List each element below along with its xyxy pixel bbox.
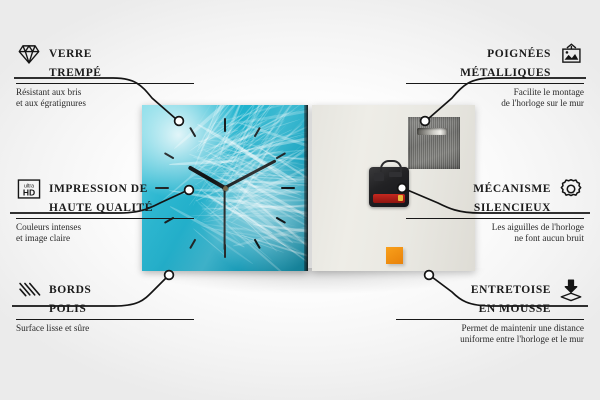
mechanism-chip [374,173,384,181]
clock-edge [304,105,308,271]
svg-text:HD: HD [23,188,35,198]
subtitle-line: Résistant aux bris [16,87,194,98]
subtitle-line: Couleurs intenses [16,222,194,233]
subtitle-line: uniforme entre l'horloge et le mur [396,334,584,345]
divider [396,319,584,320]
feature-header: ultra HD IMPRESSION DE [16,176,194,202]
feature-title-line2: SILENCIEUX [406,202,551,215]
clock-mechanism [369,167,409,207]
feature-subtitle: Permet de maintenir une distance uniform… [396,323,584,346]
divider [16,319,194,320]
subtitle-line: Les aiguilles de l'horloge [406,222,584,233]
picture-hanger-icon [558,41,584,67]
feature-title-line2: HAUTE QUALITÉ [49,202,194,215]
feature-title: IMPRESSION DE [49,183,148,196]
feature-header: MÉCANISME [406,176,584,202]
feature-subtitle: Facilite le montage de l'horloge sur le … [406,87,584,110]
feature-title: VERRE [49,48,92,61]
foam-spacer [386,247,403,264]
subtitle-line: Facilite le montage [406,87,584,98]
feature-bords-polis: BORDS POLIS Surface lisse et sûre [16,277,194,334]
feature-header: VERRE [16,41,194,67]
divider [16,218,194,219]
subtitle-line: et aux égratignures [16,98,194,109]
feature-title: MÉCANISME [406,183,551,196]
subtitle-line: Surface lisse et sûre [16,323,194,334]
feature-title: ENTRETOISE [396,284,551,297]
feature-impression-haute-qualite: ultra HD IMPRESSION DE HAUTE QUALITÉ Cou… [16,176,194,245]
feature-subtitle: Surface lisse et sûre [16,323,194,334]
polished-edges-icon [16,277,42,303]
infographic-stage: VERRE TREMPÉ Résistant aux bris et aux é… [0,0,600,400]
metal-hanger-plate [408,117,460,169]
feature-verre-trempe: VERRE TREMPÉ Résistant aux bris et aux é… [16,41,194,110]
feature-title-line2: EN MOUSSE [396,303,551,316]
feature-subtitle: Couleurs intenses et image claire [16,222,194,245]
subtitle-line: de l'horloge sur le mur [406,98,584,109]
feature-entretoise-en-mousse: ENTRETOISE EN MOUSSE Permet de maintenir… [396,277,584,346]
feature-title-line2: MÉTALLIQUES [406,67,551,80]
divider [406,83,584,84]
feature-title-line2: POLIS [49,303,194,316]
feature-header: BORDS [16,277,194,303]
feature-header: POIGNÉES [406,41,584,67]
hanger-loop-icon [380,160,402,172]
hanger-slot [417,128,447,135]
gear-icon [558,176,584,202]
battery [373,194,405,203]
foam-spacer-arrow-icon [558,277,584,303]
feature-subtitle: Les aiguilles de l'horloge ne font aucun… [406,222,584,245]
feature-title: BORDS [49,284,91,297]
divider [16,83,194,84]
subtitle-line: ne font aucun bruit [406,233,584,244]
feature-subtitle: Résistant aux bris et aux égratignures [16,87,194,110]
feature-header: ENTRETOISE [396,277,584,303]
diamond-icon [16,41,42,67]
ultra-hd-icon: ultra HD [16,176,42,202]
feature-title-line2: TREMPÉ [49,67,194,80]
subtitle-line: Permet de maintenir une distance [396,323,584,334]
feature-title: POIGNÉES [406,48,551,61]
feature-poignees-metalliques: POIGNÉES MÉTALLIQUES Facilite le montage… [406,41,584,110]
divider [406,218,584,219]
subtitle-line: et image claire [16,233,194,244]
feature-mecanisme-silencieux: MÉCANISME SILENCIEUX Les aiguilles de l'… [406,176,584,245]
mechanism-chip-2 [389,172,402,177]
